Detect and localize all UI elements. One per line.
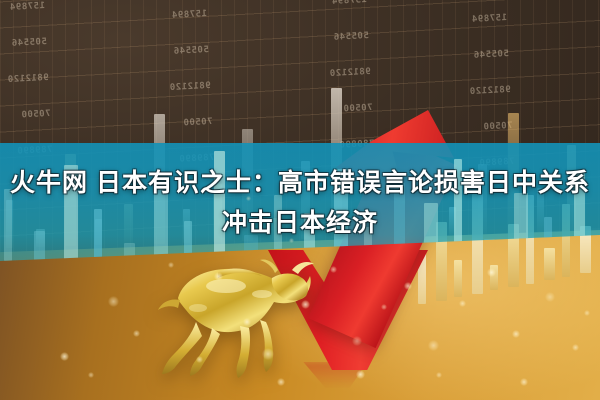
bokeh-light-layer	[0, 0, 600, 400]
bokeh-dot	[108, 296, 119, 307]
bokeh-dot	[459, 300, 466, 307]
bokeh-dot	[436, 372, 442, 378]
bokeh-dot	[572, 344, 579, 351]
bokeh-dot	[301, 300, 310, 309]
bokeh-dot	[277, 378, 285, 386]
bokeh-dot	[168, 262, 174, 268]
bokeh-dot	[133, 330, 140, 337]
bokeh-dot	[381, 304, 387, 310]
bokeh-dot	[428, 340, 439, 351]
bokeh-dot	[60, 352, 69, 361]
bokeh-dot	[330, 266, 337, 273]
bokeh-dot	[520, 378, 528, 386]
bokeh-dot	[289, 238, 294, 243]
bokeh-dot	[246, 196, 251, 201]
bokeh-dot	[487, 268, 496, 277]
bokeh-dot	[512, 330, 520, 338]
bokeh-dot	[214, 272, 223, 281]
bokeh-dot	[262, 348, 274, 360]
bokeh-dot	[88, 372, 94, 378]
bokeh-dot	[545, 292, 555, 302]
bokeh-dot	[243, 318, 251, 326]
bokeh-dot	[584, 310, 590, 316]
bokeh-dot	[404, 282, 412, 290]
bokeh-dot	[318, 214, 324, 220]
news-thumbnail-image: 157894 505546 9812120 70500 789890 15789…	[0, 0, 600, 400]
bokeh-dot	[196, 356, 203, 363]
bokeh-dot	[356, 370, 365, 379]
bokeh-dot	[352, 336, 362, 346]
